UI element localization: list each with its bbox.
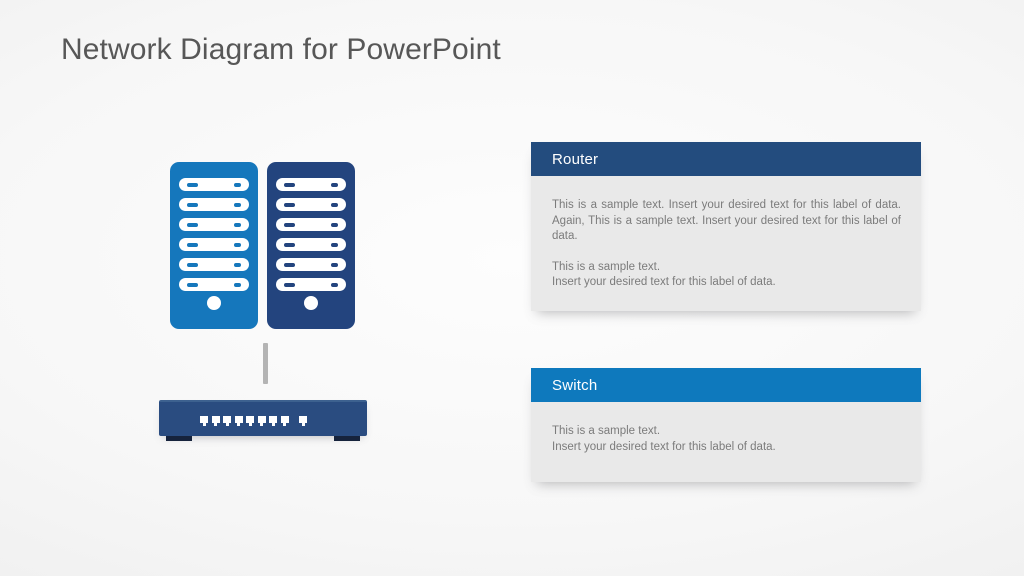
- ethernet-port-icon: [281, 416, 289, 423]
- bay-dash-left: [187, 243, 198, 247]
- server-bay: [276, 198, 346, 211]
- ethernet-port-icon: [223, 416, 231, 423]
- server-bay: [276, 238, 346, 251]
- server-bay: [179, 258, 249, 271]
- ethernet-port-icon: [269, 416, 277, 423]
- router-paragraph-1: This is a sample text. Insert your desir…: [552, 198, 901, 245]
- bay-dash-left: [284, 223, 295, 227]
- bay-dash-right: [234, 223, 241, 227]
- bay-dash-left: [284, 183, 295, 187]
- server-bay: [179, 238, 249, 251]
- router-card-header: Router: [531, 142, 921, 176]
- bay-dash-right: [234, 263, 241, 267]
- router-card-body: This is a sample text. Insert your desir…: [531, 176, 921, 311]
- bay-dash-right: [234, 283, 241, 287]
- bay-dash-left: [284, 243, 295, 247]
- secondary-server-icon[interactable]: [267, 162, 355, 329]
- ethernet-port-icon: [212, 416, 220, 423]
- bay-dash-left: [284, 283, 295, 287]
- ethernet-port-icon: [200, 416, 208, 423]
- network-switch-device[interactable]: [159, 400, 367, 436]
- bay-dash-right: [331, 203, 338, 207]
- server-to-switch-connector: [263, 343, 268, 384]
- bay-dash-left: [284, 203, 295, 207]
- bay-dash-left: [187, 263, 198, 267]
- bay-dash-right: [331, 283, 338, 287]
- bay-dash-right: [331, 263, 338, 267]
- ethernet-port-icon: [235, 416, 243, 423]
- bay-dash-right: [234, 243, 241, 247]
- server-bay: [179, 278, 249, 291]
- primary-server-icon[interactable]: [170, 162, 258, 329]
- bay-dash-left: [187, 203, 198, 207]
- status-led-icon: [207, 296, 221, 310]
- server-bay: [179, 178, 249, 191]
- ethernet-port-icon: [258, 416, 266, 423]
- bay-dash-right: [234, 183, 241, 187]
- slide-canvas: Network Diagram for PowerPoint: [0, 0, 1024, 576]
- server-bay: [179, 218, 249, 231]
- server-bay: [276, 258, 346, 271]
- bay-dash-right: [331, 223, 338, 227]
- router-info-card[interactable]: Router This is a sample text. Insert you…: [531, 142, 921, 311]
- switch-card-title: Switch: [552, 377, 597, 394]
- switch-foot: [166, 436, 192, 441]
- bay-dash-left: [187, 183, 198, 187]
- switch-chassis: [159, 400, 367, 436]
- server-bay: [276, 218, 346, 231]
- status-led-icon: [304, 296, 318, 310]
- ethernet-uplink-port-icon: [299, 416, 307, 423]
- router-paragraph-2: This is a sample text. Insert your desir…: [552, 260, 901, 291]
- bay-dash-left: [187, 223, 198, 227]
- bay-dash-left: [187, 283, 198, 287]
- bay-dash-right: [234, 203, 241, 207]
- router-card-title: Router: [552, 151, 598, 168]
- switch-foot: [334, 436, 360, 441]
- server-bay: [179, 198, 249, 211]
- switch-info-card[interactable]: Switch This is a sample text. Insert you…: [531, 368, 921, 482]
- switch-card-body: This is a sample text. Insert your desir…: [531, 402, 921, 482]
- bay-dash-left: [284, 263, 295, 267]
- server-bay: [276, 278, 346, 291]
- server-bay: [276, 178, 346, 191]
- switch-card-header: Switch: [531, 368, 921, 402]
- switch-port-row: [200, 416, 307, 423]
- page-title: Network Diagram for PowerPoint: [61, 33, 501, 67]
- switch-paragraph-1: This is a sample text. Insert your desir…: [552, 424, 901, 455]
- bay-dash-right: [331, 183, 338, 187]
- ethernet-port-icon: [246, 416, 254, 423]
- bay-dash-right: [331, 243, 338, 247]
